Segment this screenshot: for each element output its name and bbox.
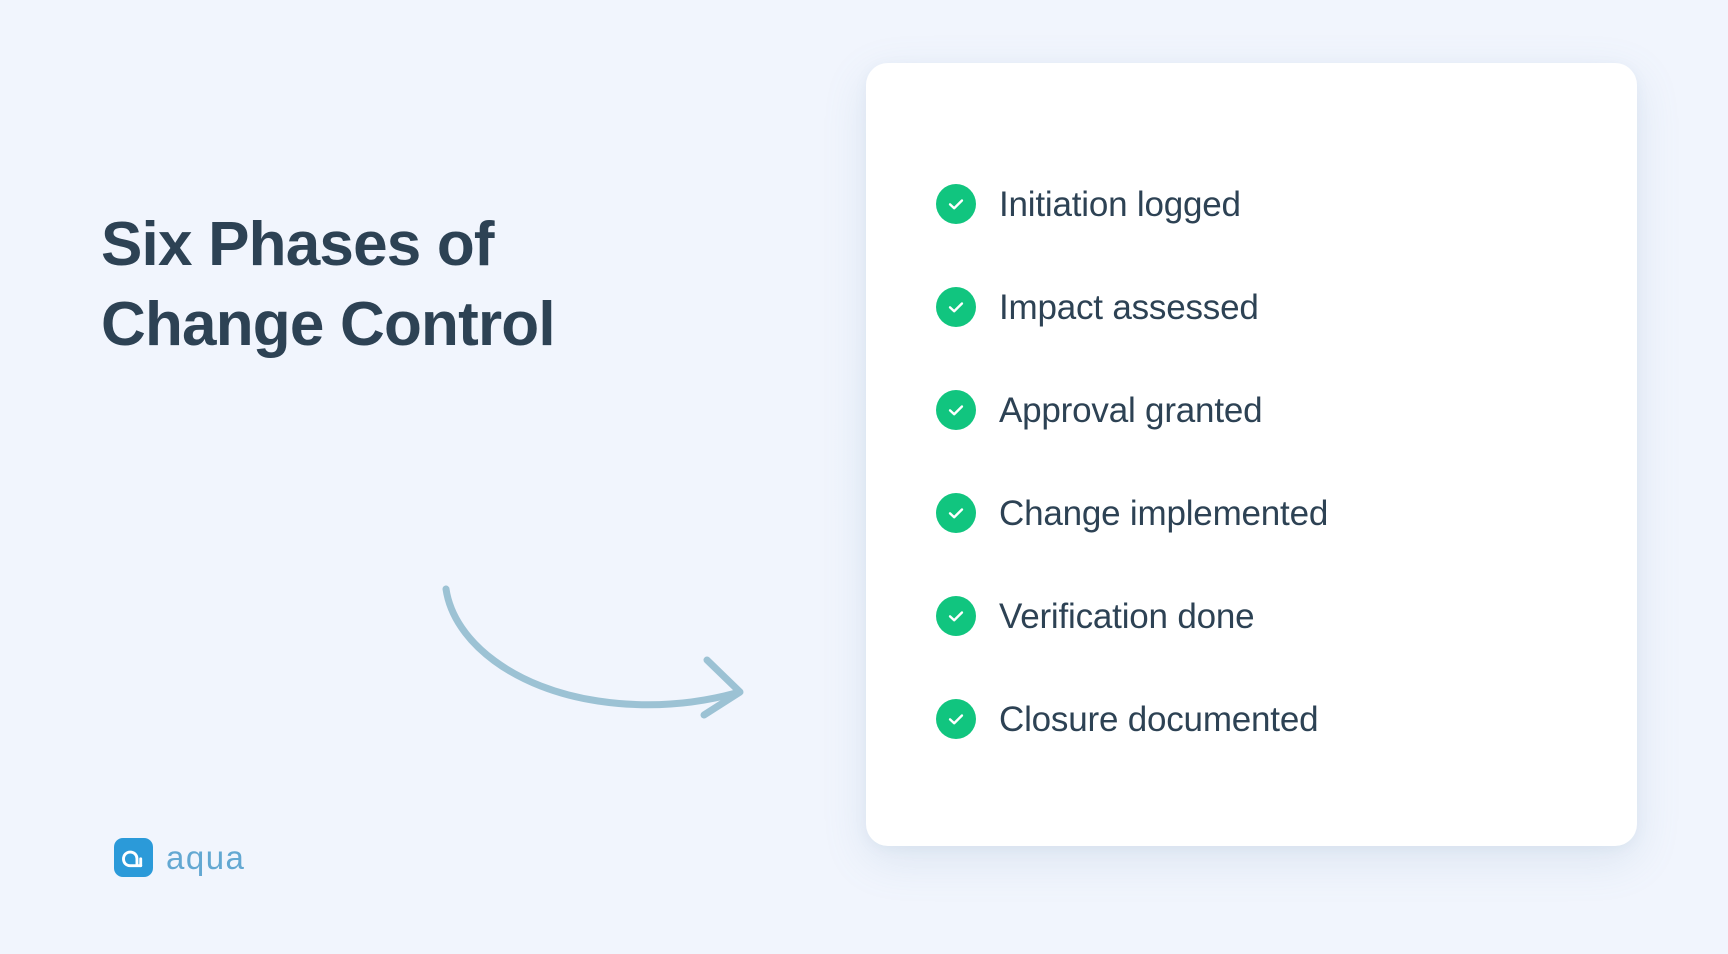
infographic-canvas: Six Phases of Change Control aqua Initia… xyxy=(0,0,1728,954)
curved-arrow-icon xyxy=(420,565,780,725)
check-circle-icon xyxy=(936,184,976,224)
checklist-item-label: Impact assessed xyxy=(999,290,1259,325)
curved-arrow-svg xyxy=(420,565,780,725)
checklist-item-label: Verification done xyxy=(999,599,1254,634)
aqua-logo-mark-icon xyxy=(114,838,153,877)
checklist-item-label: Change implemented xyxy=(999,496,1328,531)
check-circle-icon xyxy=(936,493,976,533)
left-pane: Six Phases of Change Control aqua xyxy=(0,0,780,954)
checklist: Initiation loggedImpact assessedApproval… xyxy=(936,184,1597,739)
checklist-item[interactable]: Change implemented xyxy=(936,493,1597,533)
page-title: Six Phases of Change Control xyxy=(101,205,721,365)
check-circle-icon xyxy=(936,287,976,327)
check-circle-icon xyxy=(936,390,976,430)
checklist-item-label: Initiation logged xyxy=(999,187,1241,222)
checklist-item[interactable]: Initiation logged xyxy=(936,184,1597,224)
check-glyph xyxy=(945,708,967,730)
checklist-item[interactable]: Impact assessed xyxy=(936,287,1597,327)
checklist-item[interactable]: Verification done xyxy=(936,596,1597,636)
check-glyph xyxy=(945,605,967,627)
aqua-glyph xyxy=(121,845,146,870)
check-circle-icon xyxy=(936,596,976,636)
check-circle-icon xyxy=(936,699,976,739)
brand-logo: aqua xyxy=(114,838,245,877)
checklist-item-label: Closure documented xyxy=(999,702,1318,737)
check-glyph xyxy=(945,502,967,524)
checklist-item[interactable]: Approval granted xyxy=(936,390,1597,430)
check-glyph xyxy=(945,193,967,215)
checklist-card: Initiation loggedImpact assessedApproval… xyxy=(866,63,1637,846)
check-glyph xyxy=(945,399,967,421)
checklist-item[interactable]: Closure documented xyxy=(936,699,1597,739)
aqua-wordmark: aqua xyxy=(166,841,245,874)
checklist-item-label: Approval granted xyxy=(999,393,1262,428)
check-glyph xyxy=(945,296,967,318)
